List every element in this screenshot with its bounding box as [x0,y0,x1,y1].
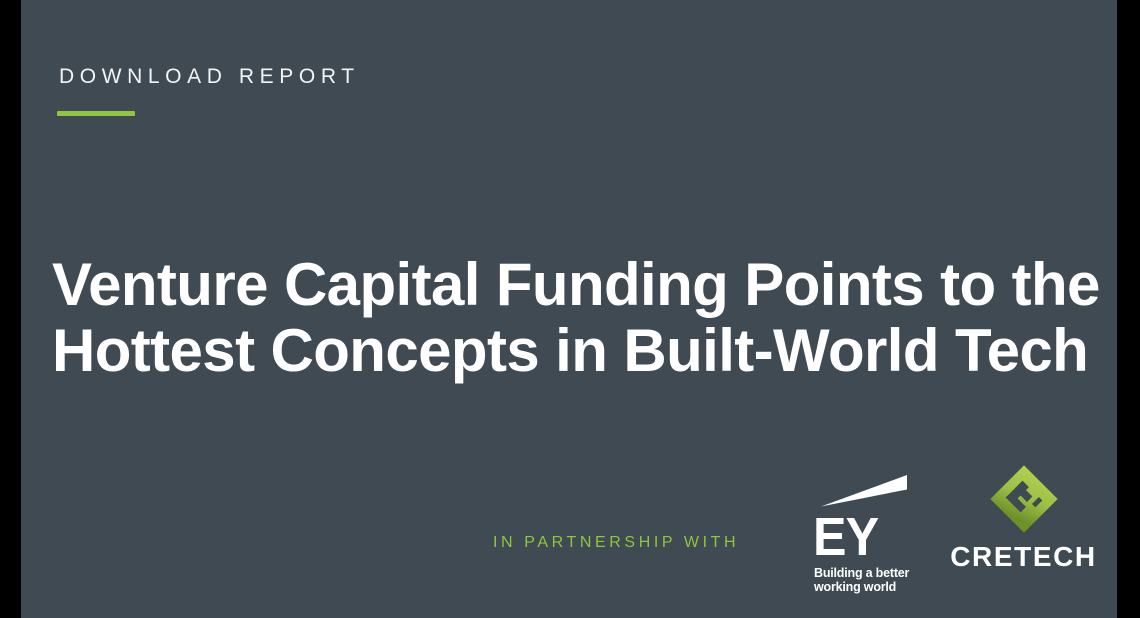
ey-tagline: Building a better working world [814,567,909,594]
headline-line-2: Hottest Concepts in Built-World Tech [52,318,1104,384]
headline-line-1: Venture Capital Funding Points to the [52,252,1104,318]
ey-beam-icon [821,473,911,508]
letterbox-right-bar [1117,0,1140,618]
letterbox-left-bar [0,0,21,618]
eyebrow-label: DOWNLOAD REPORT [59,66,360,87]
cretech-diamond-icon [989,463,1059,535]
accent-rule [57,111,135,116]
partnership-label: IN PARTNERSHIP WITH [493,535,739,551]
ey-logo: EY Building a better working world [801,467,919,592]
partnership-row: IN PARTNERSHIP WITH EY Building a better… [21,455,1117,605]
page-title: Venture Capital Funding Points to the Ho… [34,252,1104,384]
slide-screen: DOWNLOAD REPORT Venture Capital Funding … [0,0,1140,618]
cretech-wordmark: CRETECH [941,542,1106,572]
ey-tagline-line-2: working world [814,581,909,595]
eyebrow-block: DOWNLOAD REPORT [59,66,360,116]
cretech-logo: CRETECH [941,463,1106,595]
report-cover-slide: DOWNLOAD REPORT Venture Capital Funding … [21,0,1117,618]
ey-tagline-line-1: Building a better [814,567,909,581]
ey-wordmark: EY [813,513,878,561]
